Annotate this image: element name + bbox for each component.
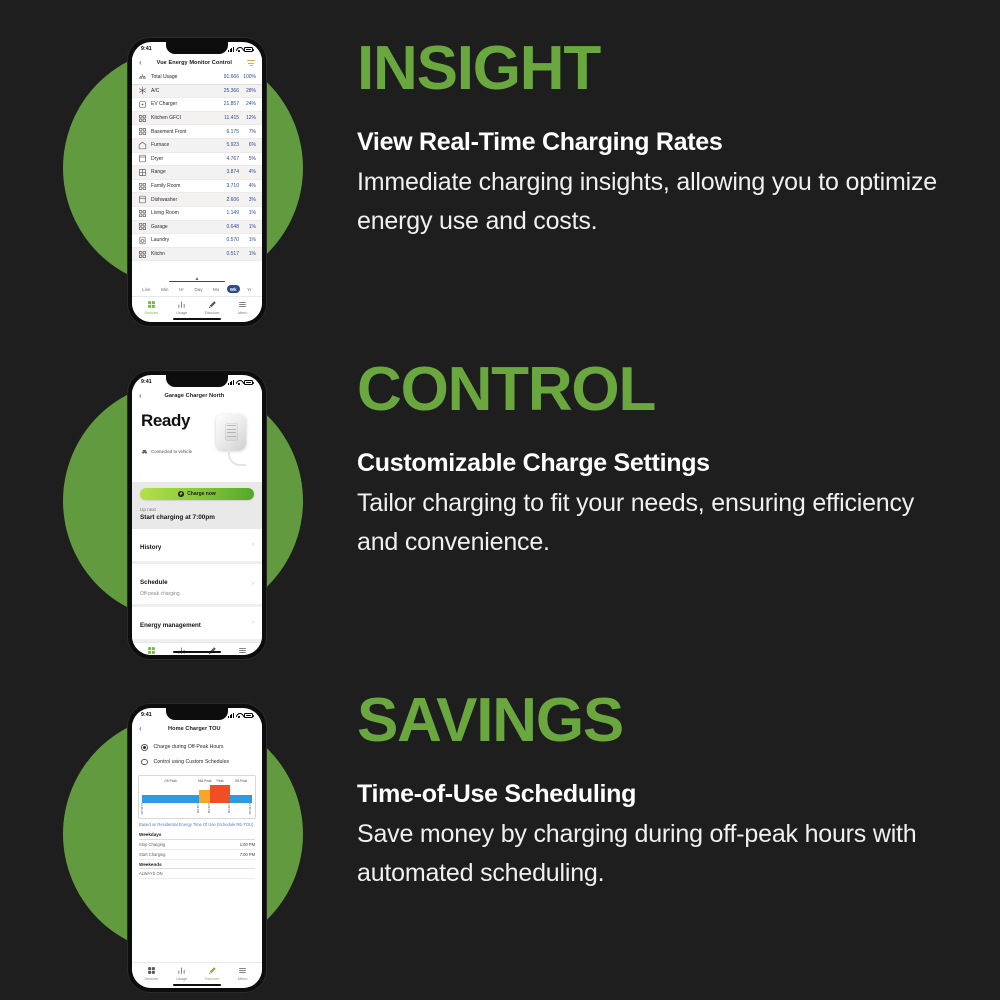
usage-row-percent: 3% xyxy=(239,197,256,203)
tou-tick-label: 3:00 PM xyxy=(207,803,210,813)
radio-option[interactable]: Control using Custom Schedules xyxy=(132,755,262,770)
kicker-heading: CONTROL xyxy=(357,333,957,421)
usage-row-value: 3.874 xyxy=(217,169,239,175)
schedule-row-label: ALWAYS ON xyxy=(139,871,163,876)
status-bar-indicators xyxy=(228,713,253,718)
cellular-signal-icon xyxy=(228,47,234,52)
bottom-tab-bar-2[interactable]: DevicesUsageDiscoverMenu xyxy=(132,642,262,655)
usage-row[interactable]: Basement Front6.1757% xyxy=(132,125,262,139)
usage-row-name: Range xyxy=(151,169,217,175)
phone-screen-charger: 9:41 ‹ Garage Charger North Ready xyxy=(132,375,262,655)
scroll-indicator[interactable]: ▲ xyxy=(132,277,262,282)
tab-label: Devices xyxy=(145,977,158,981)
phone-notch xyxy=(166,708,228,720)
usage-row[interactable]: Dryer4.7675% xyxy=(132,153,262,167)
schedule-row-value: 7:00 PM xyxy=(240,852,255,857)
usage-list[interactable]: Total Usage91.666100%A/C25.36628%EV Char… xyxy=(132,71,262,277)
tab-usage[interactable]: Usage xyxy=(167,300,198,315)
tou-rate-chart: Off-PeakMid-PeakPeakOff-Peak 12:00 AM1:0… xyxy=(138,775,256,819)
text-column-control: CONTROL Customizable Charge Settings Tai… xyxy=(357,333,957,666)
menu-icon xyxy=(238,966,247,975)
app-header-3: ‹ Home Charger TOU xyxy=(132,722,262,737)
tab-devices[interactable]: Devices xyxy=(136,646,167,655)
tab-menu[interactable]: Menu xyxy=(228,966,259,981)
usage-row-value: 4.767 xyxy=(217,156,239,162)
body-text: Tailor charging to fit your needs, ensur… xyxy=(357,484,957,562)
usage-row[interactable]: Kitchen GFCI11.41512% xyxy=(132,112,262,126)
phone-screen-tou: 9:41 ‹ Home Charger TOU Charge during Of… xyxy=(132,708,262,988)
usage-row-name: Family Room xyxy=(151,183,217,189)
usage-row-percent: 28% xyxy=(239,88,256,94)
cellular-signal-icon xyxy=(228,380,234,385)
usage-row-value: 0.517 xyxy=(217,251,239,257)
filter-icon[interactable] xyxy=(247,60,255,65)
tou-segment-off-peak xyxy=(230,795,252,803)
usage-row-percent: 1% xyxy=(239,224,256,230)
tab-label: Devices xyxy=(145,311,158,315)
wifi-icon xyxy=(236,713,242,718)
charger-settings-list[interactable]: History›ScheduleOff-peak charging›Energy… xyxy=(132,529,262,643)
up-next-label: Up next xyxy=(140,507,254,512)
schedule-row: ALWAYS ON xyxy=(139,869,255,879)
outlet-icon xyxy=(138,222,147,231)
usage-row-name: Kitchn xyxy=(151,251,217,257)
usage-row-percent: 24% xyxy=(239,101,256,107)
status-bar-time: 9:41 xyxy=(141,379,152,385)
tab-label: Menu xyxy=(238,977,247,981)
ev-charger-icon xyxy=(138,100,147,109)
usage-row-name: Living Room xyxy=(151,210,217,216)
tab-usage[interactable]: Usage xyxy=(167,966,198,981)
schedule-table: WeekdaysStop Charging1:00 PMStart Chargi… xyxy=(139,830,255,879)
chevron-right-icon: › xyxy=(252,542,254,548)
tab-label: Discover xyxy=(205,977,220,981)
tou-axis-labels: 12:00 AM1:00 PM3:00 PM7:00 PM12:00 AM xyxy=(142,803,252,816)
status-bar-indicators xyxy=(228,380,253,385)
usage-row[interactable]: Dishwasher2.6063% xyxy=(132,193,262,207)
usage-row[interactable]: Garage0.6481% xyxy=(132,221,262,235)
tab-devices[interactable]: Devices xyxy=(136,966,167,981)
tou-tick-label: 7:00 PM xyxy=(227,803,230,813)
outlet-icon xyxy=(138,114,147,123)
sub-heading: Time-of-Use Scheduling xyxy=(357,780,957,809)
usage-row-name: Total Usage xyxy=(151,74,217,80)
usage-row-value: 6.175 xyxy=(217,129,239,135)
range-pill-hr[interactable]: Hr xyxy=(176,285,187,293)
devices-icon xyxy=(147,646,156,655)
usage-row-name: Kitchen GFCI xyxy=(151,115,217,121)
body-text: Immediate charging insights, allowing yo… xyxy=(357,163,957,241)
usage-row-percent: 4% xyxy=(239,183,256,189)
menu-icon xyxy=(238,300,247,309)
page-title: Vue Energy Monitor Control xyxy=(142,60,247,66)
range-icon xyxy=(138,168,147,177)
usage-row-percent: 5% xyxy=(239,156,256,162)
range-pill-wk[interactable]: Wk xyxy=(227,285,240,293)
settings-row[interactable]: History› xyxy=(132,529,262,564)
outlet-icon xyxy=(138,209,147,218)
tou-period-label: Off-Peak xyxy=(235,779,248,783)
charge-now-button[interactable]: ⚡ Charge now xyxy=(140,488,254,500)
settings-row-title: History xyxy=(140,544,161,551)
kicker-heading: INSIGHT xyxy=(357,0,957,100)
usage-row-name: Dryer xyxy=(151,156,217,162)
usage-row-value: 11.415 xyxy=(217,115,239,121)
usage-icon xyxy=(177,966,186,975)
feature-panel-insight: 9:41 ‹ Vue Energy Monitor Control Total … xyxy=(0,0,1000,333)
bolt-icon: ⚡ xyxy=(178,491,184,497)
charge-mode-options[interactable]: Charge during Off-Peak HoursControl usin… xyxy=(132,737,262,773)
wifi-icon xyxy=(236,47,242,52)
content-spacer xyxy=(132,879,262,962)
tou-tick-label: 12:00 AM xyxy=(140,803,143,814)
car-icon xyxy=(141,449,148,454)
outlet-icon xyxy=(138,127,147,136)
usage-row[interactable]: Furnace5.9236% xyxy=(132,139,262,153)
kicker-heading: SAVINGS xyxy=(357,666,957,752)
radio-option[interactable]: Charge during Off-Peak Hours xyxy=(132,740,262,755)
usage-row-percent: 1% xyxy=(239,210,256,216)
up-next-value: Start charging at 7:00pm xyxy=(140,514,254,521)
tou-period-label: Mid-Peak xyxy=(198,779,211,783)
dryer-icon xyxy=(138,154,147,163)
body-text: Save money by charging during off-peak h… xyxy=(357,815,957,893)
usage-row[interactable]: Total Usage91.666100% xyxy=(132,71,262,85)
tab-menu[interactable]: Menu xyxy=(228,646,259,655)
range-pill-yr[interactable]: Yr xyxy=(244,285,255,293)
status-bar-time: 9:41 xyxy=(141,46,152,52)
tou-tick-label: 12:00 AM xyxy=(248,803,251,814)
outlet-icon xyxy=(138,250,147,259)
charger-faceplate xyxy=(225,423,238,441)
tou-period-label: Peak xyxy=(216,779,223,783)
usage-row-value: 5.923 xyxy=(217,142,239,148)
feature-panel-control: 9:41 ‹ Garage Charger North Ready xyxy=(0,333,1000,666)
usage-row[interactable]: Family Room3.7104% xyxy=(132,180,262,194)
settings-row-subtitle: Off-peak charging xyxy=(140,591,252,597)
settings-row[interactable]: ScheduleOff-peak charging› xyxy=(132,564,262,608)
range-pill-day[interactable]: Day xyxy=(191,285,205,293)
usage-row-value: 0.570 xyxy=(217,237,239,243)
usage-row-value: 25.366 xyxy=(217,88,239,94)
connected-label: Connected to vehicle xyxy=(151,449,192,454)
settings-row-title: Energy management xyxy=(140,622,201,629)
home-indicator xyxy=(173,318,221,321)
usage-row-name: EV Charger xyxy=(151,101,217,107)
home-indicator xyxy=(173,651,221,654)
phone-notch xyxy=(166,375,228,387)
charger-body xyxy=(216,414,246,450)
discover-icon xyxy=(208,300,217,309)
discover-icon xyxy=(208,966,217,975)
home-usage-icon xyxy=(138,73,147,82)
tab-menu[interactable]: Menu xyxy=(228,300,259,315)
range-pill-live[interactable]: Live xyxy=(139,285,153,293)
charger-illustration xyxy=(212,414,254,466)
schedule-row: Stop Charging1:00 PM xyxy=(139,840,255,850)
page-title: Home Charger TOU xyxy=(142,726,247,732)
usage-row-percent: 100% xyxy=(239,74,256,80)
usage-row-percent: 4% xyxy=(239,169,256,175)
tab-label: Usage xyxy=(176,311,187,315)
usage-row-name: Furnace xyxy=(151,142,217,148)
home-indicator xyxy=(173,984,221,987)
charge-action-block: ⚡ Charge now Up next Start charging at 7… xyxy=(132,482,262,529)
usage-row-value: 2.606 xyxy=(217,197,239,203)
tou-bars xyxy=(142,785,252,803)
sub-heading: Customizable Charge Settings xyxy=(357,449,957,478)
usage-row-percent: 7% xyxy=(239,129,256,135)
radio-button-icon[interactable] xyxy=(141,759,148,766)
app-header-2: ‹ Garage Charger North xyxy=(132,389,262,404)
chevron-right-icon: › xyxy=(252,581,254,587)
usage-row-value: 3.710 xyxy=(217,183,239,189)
tou-period-label: Off-Peak xyxy=(164,779,177,783)
charger-cable xyxy=(228,448,246,466)
tab-discover[interactable]: Discover xyxy=(197,300,228,315)
usage-icon xyxy=(177,300,186,309)
usage-row[interactable]: Range3.8744% xyxy=(132,166,262,180)
snowflake-icon xyxy=(138,86,147,95)
text-column-savings: SAVINGS Time-of-Use Scheduling Save mone… xyxy=(357,666,957,999)
range-pill-min[interactable]: Min xyxy=(158,285,171,293)
status-bar-indicators xyxy=(228,47,253,52)
usage-row[interactable]: EV Charger21.85724% xyxy=(132,98,262,112)
dishwasher-icon xyxy=(138,195,147,204)
tab-discover[interactable]: Discover xyxy=(197,966,228,981)
battery-icon xyxy=(244,713,253,718)
schedule-row-label: Start Charging xyxy=(139,852,165,857)
page-title: Garage Charger North xyxy=(142,393,247,399)
tou-segment-mid-peak xyxy=(199,790,210,803)
usage-row-percent: 1% xyxy=(239,237,256,243)
usage-row-name: Garage xyxy=(151,224,217,230)
phone-notch xyxy=(166,42,228,54)
settings-row-title: Schedule xyxy=(140,579,168,586)
usage-row-value: 21.857 xyxy=(217,101,239,107)
schedule-group-header: Weekends xyxy=(139,860,255,870)
cellular-signal-icon xyxy=(228,713,234,718)
battery-icon xyxy=(244,47,253,52)
furnace-icon xyxy=(138,141,147,150)
usage-row-name: Basement Front xyxy=(151,129,217,135)
usage-row[interactable]: Laundry0.5701% xyxy=(132,234,262,248)
schedule-row-value: 1:00 PM xyxy=(240,842,255,847)
usage-row-percent: 12% xyxy=(239,115,256,121)
tou-segment-off-peak xyxy=(142,795,199,803)
usage-row-percent: 1% xyxy=(239,251,256,257)
range-pill-mo[interactable]: Mo xyxy=(210,285,222,293)
charger-hero: Ready Connected to vehicle xyxy=(132,404,262,482)
usage-row[interactable]: Kitchn0.5171% xyxy=(132,248,262,262)
phone-mockup-3: 9:41 ‹ Home Charger TOU Charge during Of… xyxy=(128,704,266,992)
usage-row-value: 0.648 xyxy=(217,224,239,230)
text-column-insight: INSIGHT View Real-Time Charging Rates Im… xyxy=(357,0,957,333)
devices-icon xyxy=(147,300,156,309)
radio-option-label: Charge during Off-Peak Hours xyxy=(154,744,224,750)
app-header-1: ‹ Vue Energy Monitor Control xyxy=(132,56,262,71)
laundry-icon xyxy=(138,236,147,245)
tab-label: Usage xyxy=(176,977,187,981)
schedule-group-header: Weekdays xyxy=(139,830,255,840)
usage-row-value: 91.666 xyxy=(217,74,239,80)
radio-button-icon[interactable] xyxy=(141,744,148,751)
usage-row-value: 1.149 xyxy=(217,210,239,216)
chevron-up-icon: ▲ xyxy=(195,277,200,282)
tou-tick-label: 1:00 PM xyxy=(196,803,199,813)
usage-row-name: Laundry xyxy=(151,237,217,243)
tab-label: Discover xyxy=(205,311,220,315)
usage-row-name: Dishwasher xyxy=(151,197,217,203)
tou-segment-peak xyxy=(210,785,230,803)
schedule-row: Start Charging7:00 PM xyxy=(139,850,255,860)
time-range-selector-1[interactable]: LiveMinHrDayMoWkYr xyxy=(132,282,262,296)
tab-devices[interactable]: Devices xyxy=(136,300,167,315)
tab-label: Menu xyxy=(238,311,247,315)
radio-option-label: Control using Custom Schedules xyxy=(154,759,230,765)
devices-icon xyxy=(147,966,156,975)
usage-row[interactable]: A/C25.36628% xyxy=(132,85,262,99)
usage-row[interactable]: Living Room1.1491% xyxy=(132,207,262,221)
phone-screen-usage: 9:41 ‹ Vue Energy Monitor Control Total … xyxy=(132,42,262,322)
chevron-right-icon: › xyxy=(252,620,254,626)
tou-note: Based on Residential Energy Time Of Use … xyxy=(139,822,255,827)
phone-mockup-1: 9:41 ‹ Vue Energy Monitor Control Total … xyxy=(128,38,266,326)
outlet-icon xyxy=(138,182,147,191)
charge-now-label: Charge now xyxy=(187,491,216,497)
schedule-row-label: Stop Charging xyxy=(139,842,165,847)
sub-heading: View Real-Time Charging Rates xyxy=(357,128,957,157)
phone-mockup-2: 9:41 ‹ Garage Charger North Ready xyxy=(128,371,266,659)
feature-panel-savings: 9:41 ‹ Home Charger TOU Charge during Of… xyxy=(0,666,1000,999)
wifi-icon xyxy=(236,380,242,385)
usage-row-name: A/C xyxy=(151,88,217,94)
status-bar-time: 9:41 xyxy=(141,712,152,718)
battery-icon xyxy=(244,380,253,385)
usage-row-percent: 6% xyxy=(239,142,256,148)
settings-row[interactable]: Energy management› xyxy=(132,607,262,642)
menu-icon xyxy=(238,646,247,655)
